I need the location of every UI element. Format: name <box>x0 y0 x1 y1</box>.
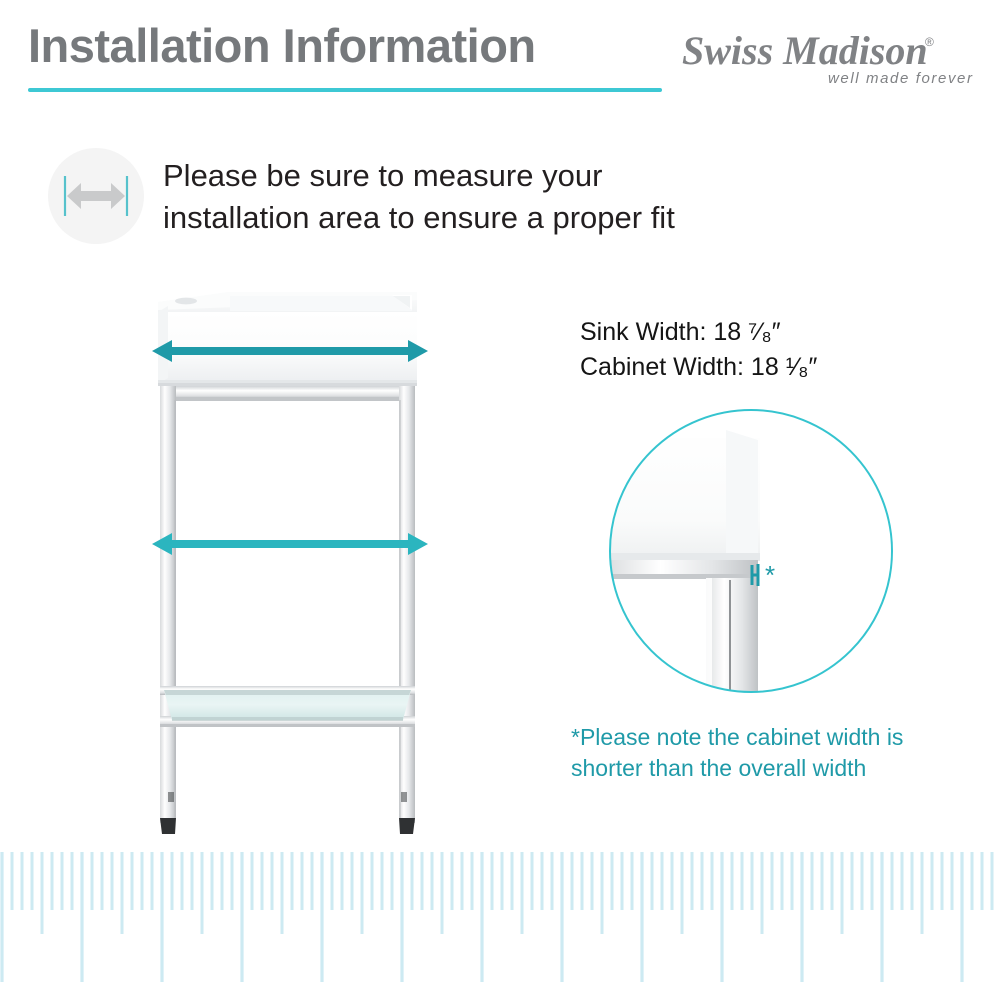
logo-registered-mark: ® <box>925 35 934 49</box>
installation-information-page: Installation Information Swiss Madison ®… <box>0 0 1000 1000</box>
logo-tagline: well made forever <box>828 70 974 87</box>
glass-shelf <box>164 690 411 721</box>
page-title: Installation Information <box>28 22 536 69</box>
dimension-list: Sink Width: 18 ⁷⁄₈″ Cabinet Width: 18 ¹⁄… <box>580 315 817 384</box>
brand-logo: Swiss Madison ® well made forever <box>682 28 982 90</box>
title-underline <box>28 88 662 92</box>
measure-notice-line1: Please be sure to measure your <box>163 155 763 197</box>
chrome-frame <box>160 386 415 823</box>
footnote-line1: *Please note the cabinet width is <box>571 722 951 753</box>
cabinet-width-footnote: *Please note the cabinet width is shorte… <box>571 722 951 784</box>
leveling-feet <box>160 792 415 834</box>
cabinet-overhang-detail: * <box>608 408 894 694</box>
overhang-asterisk: * <box>765 560 775 590</box>
cabinet-width-arrow <box>152 533 428 555</box>
sink <box>158 292 417 386</box>
measure-notice: Please be sure to measure your installat… <box>163 155 763 239</box>
measure-notice-line2: installation area to ensure a proper fit <box>163 197 763 239</box>
footnote-line2: shorter than the overall width <box>571 753 951 784</box>
width-arrow-icon <box>48 148 144 244</box>
cabinet-width-text: Cabinet Width: 18 ¹⁄₈″ <box>580 350 817 385</box>
faucet-hole <box>175 298 197 305</box>
sink-width-text: Sink Width: 18 ⁷⁄₈″ <box>580 315 817 350</box>
logo-brand-text: Swiss Madison <box>682 28 928 73</box>
product-illustration <box>120 270 460 850</box>
ruler-graphic <box>0 852 1000 1000</box>
